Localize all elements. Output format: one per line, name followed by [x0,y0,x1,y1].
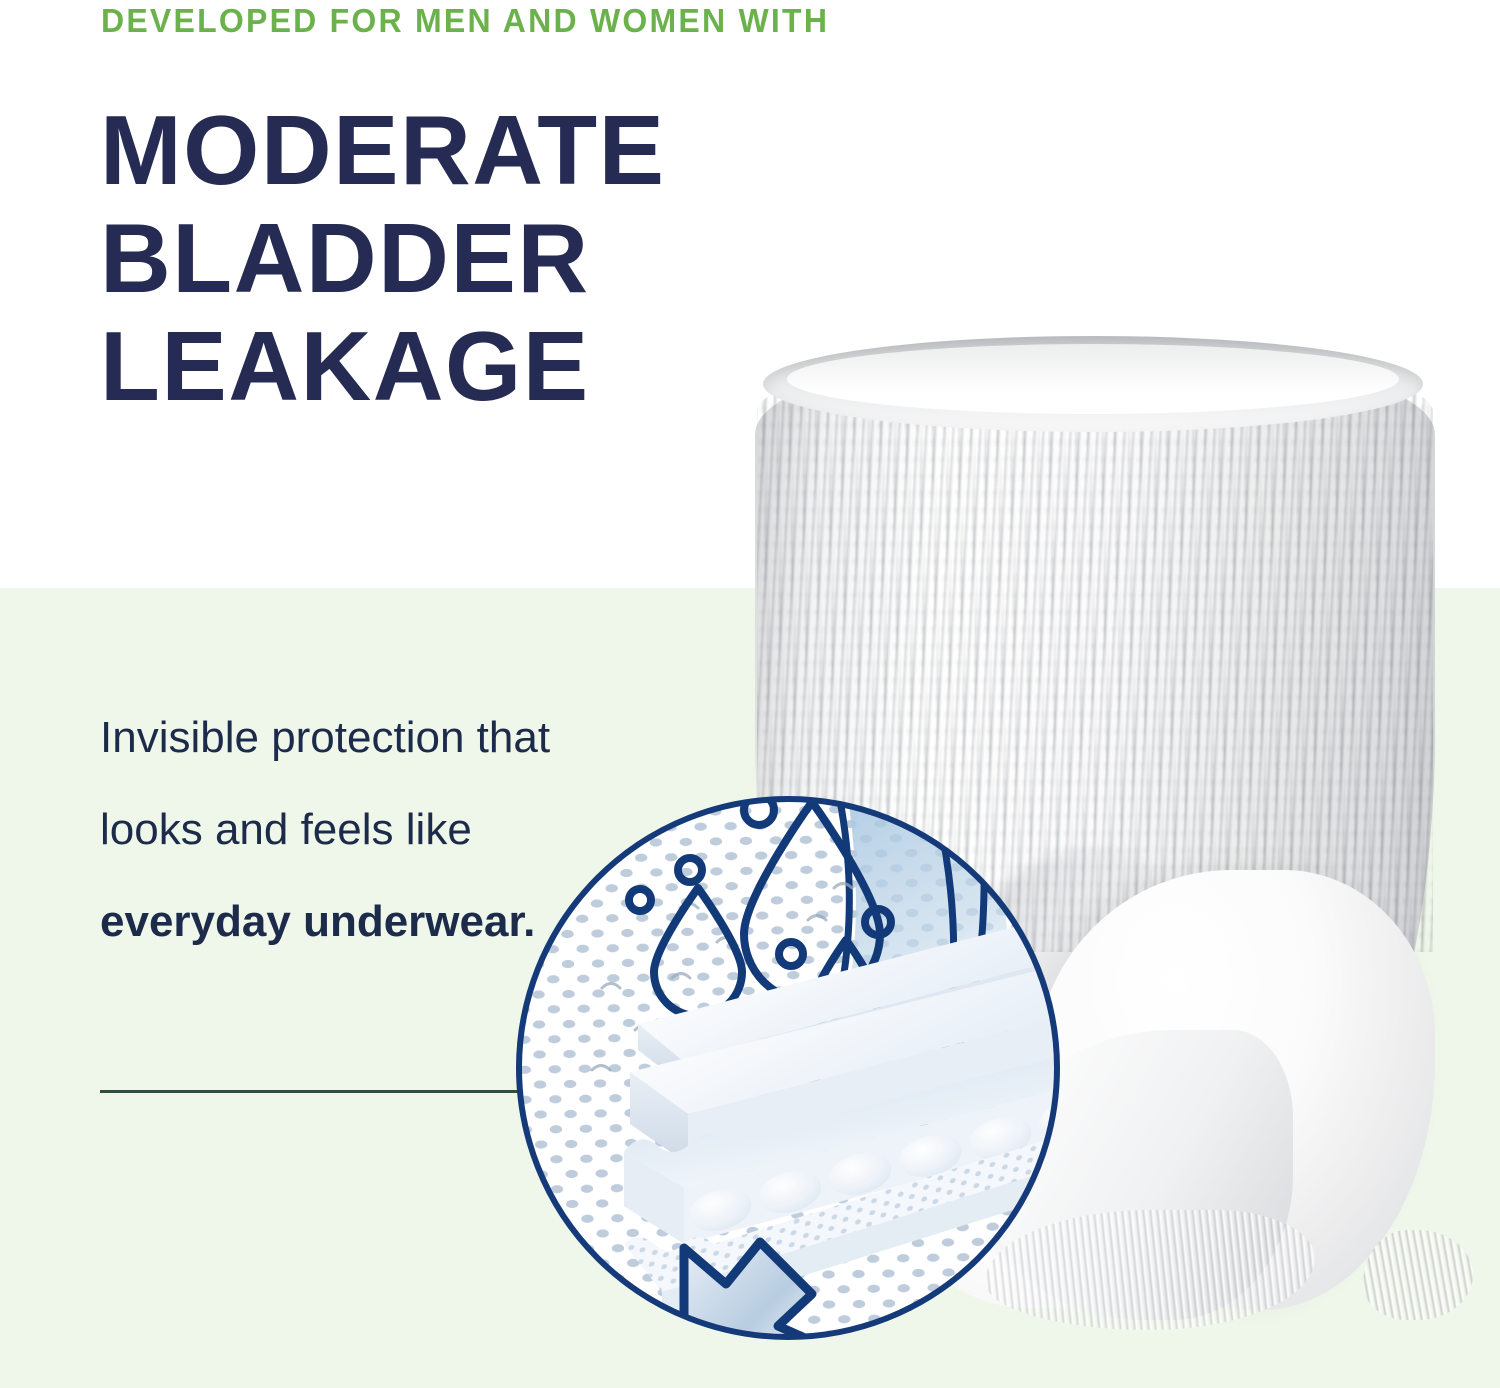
cross-section-callout [512,792,1064,1344]
headline-line-1: MODERATE [100,96,666,204]
product-waistband-inner [787,344,1399,414]
body-copy-bold-1: everyday [100,897,291,946]
callout-leader-line [100,1090,580,1093]
promo-banner: DEVELOPED FOR MEN AND WOMEN WITH MODERAT… [0,0,1500,1388]
page-title: MODERATE BLADDER LEAKAGE [100,96,666,420]
product-right-cuff [1363,1230,1473,1320]
headline-line-3: LEAKAGE [100,312,666,420]
headline-line-2: BLADDER [100,204,666,312]
body-copy-line-3: like [406,805,472,854]
eyebrow-text: DEVELOPED FOR MEN AND WOMEN WITH [101,2,829,40]
body-copy-line-1: Invisible protection [100,713,464,762]
body-copy-bold-2: underwear. [303,897,535,946]
